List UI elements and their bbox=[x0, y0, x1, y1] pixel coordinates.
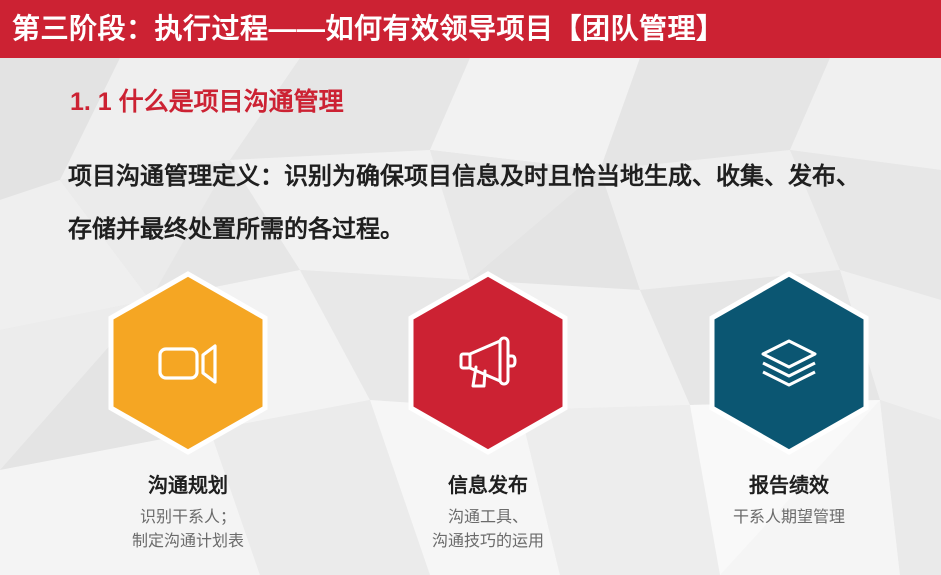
description-line-1: 干系人期望管理 bbox=[639, 506, 939, 530]
hexagon-card-row: 沟通规划 识别干系人； 制定沟通计划表 bbox=[0, 270, 941, 575]
description-line-2: 沟通技巧的运用 bbox=[338, 530, 638, 554]
slide-canvas: 第三阶段：执行过程——如何有效领导项目【团队管理】 1. 1 什么是项目沟通管理… bbox=[0, 0, 941, 575]
hexagon-card-description: 沟通工具、 沟通技巧的运用 bbox=[338, 506, 638, 554]
body-line-1: 项目沟通管理定义：识别为确保项目信息及时且恰当地生成、收集、发布、 bbox=[68, 150, 941, 203]
hexagon-card-communication-planning[interactable]: 沟通规划 识别干系人； 制定沟通计划表 bbox=[38, 270, 338, 575]
hexagon-card-title: 信息发布 bbox=[338, 472, 638, 500]
section-heading: 1. 1 什么是项目沟通管理 bbox=[70, 85, 344, 119]
header-bar: 第三阶段：执行过程——如何有效领导项目【团队管理】 bbox=[0, 0, 941, 58]
hexagon-card-title: 报告绩效 bbox=[639, 472, 939, 500]
hexagon-card-description: 识别干系人； 制定沟通计划表 bbox=[38, 506, 338, 554]
body-paragraph: 项目沟通管理定义：识别为确保项目信息及时且恰当地生成、收集、发布、 存储并最终处… bbox=[68, 150, 941, 256]
page-title: 第三阶段：执行过程——如何有效领导项目【团队管理】 bbox=[12, 9, 725, 49]
hexagon-card-performance-report[interactable]: 报告绩效 干系人期望管理 bbox=[639, 270, 939, 575]
hexagon-card-description: 干系人期望管理 bbox=[639, 506, 939, 530]
hexagon-card-information-release[interactable]: 信息发布 沟通工具、 沟通技巧的运用 bbox=[338, 270, 638, 575]
hexagon-shape-red[interactable] bbox=[405, 270, 571, 456]
description-line-2: 制定沟通计划表 bbox=[38, 530, 338, 554]
hexagon-shape-teal[interactable] bbox=[706, 270, 872, 456]
description-line-1: 沟通工具、 bbox=[338, 506, 638, 530]
body-line-2: 存储并最终处置所需的各过程。 bbox=[68, 203, 941, 256]
hexagon-shape-orange[interactable] bbox=[105, 270, 271, 456]
description-line-1: 识别干系人； bbox=[38, 506, 338, 530]
hexagon-card-title: 沟通规划 bbox=[38, 472, 338, 500]
